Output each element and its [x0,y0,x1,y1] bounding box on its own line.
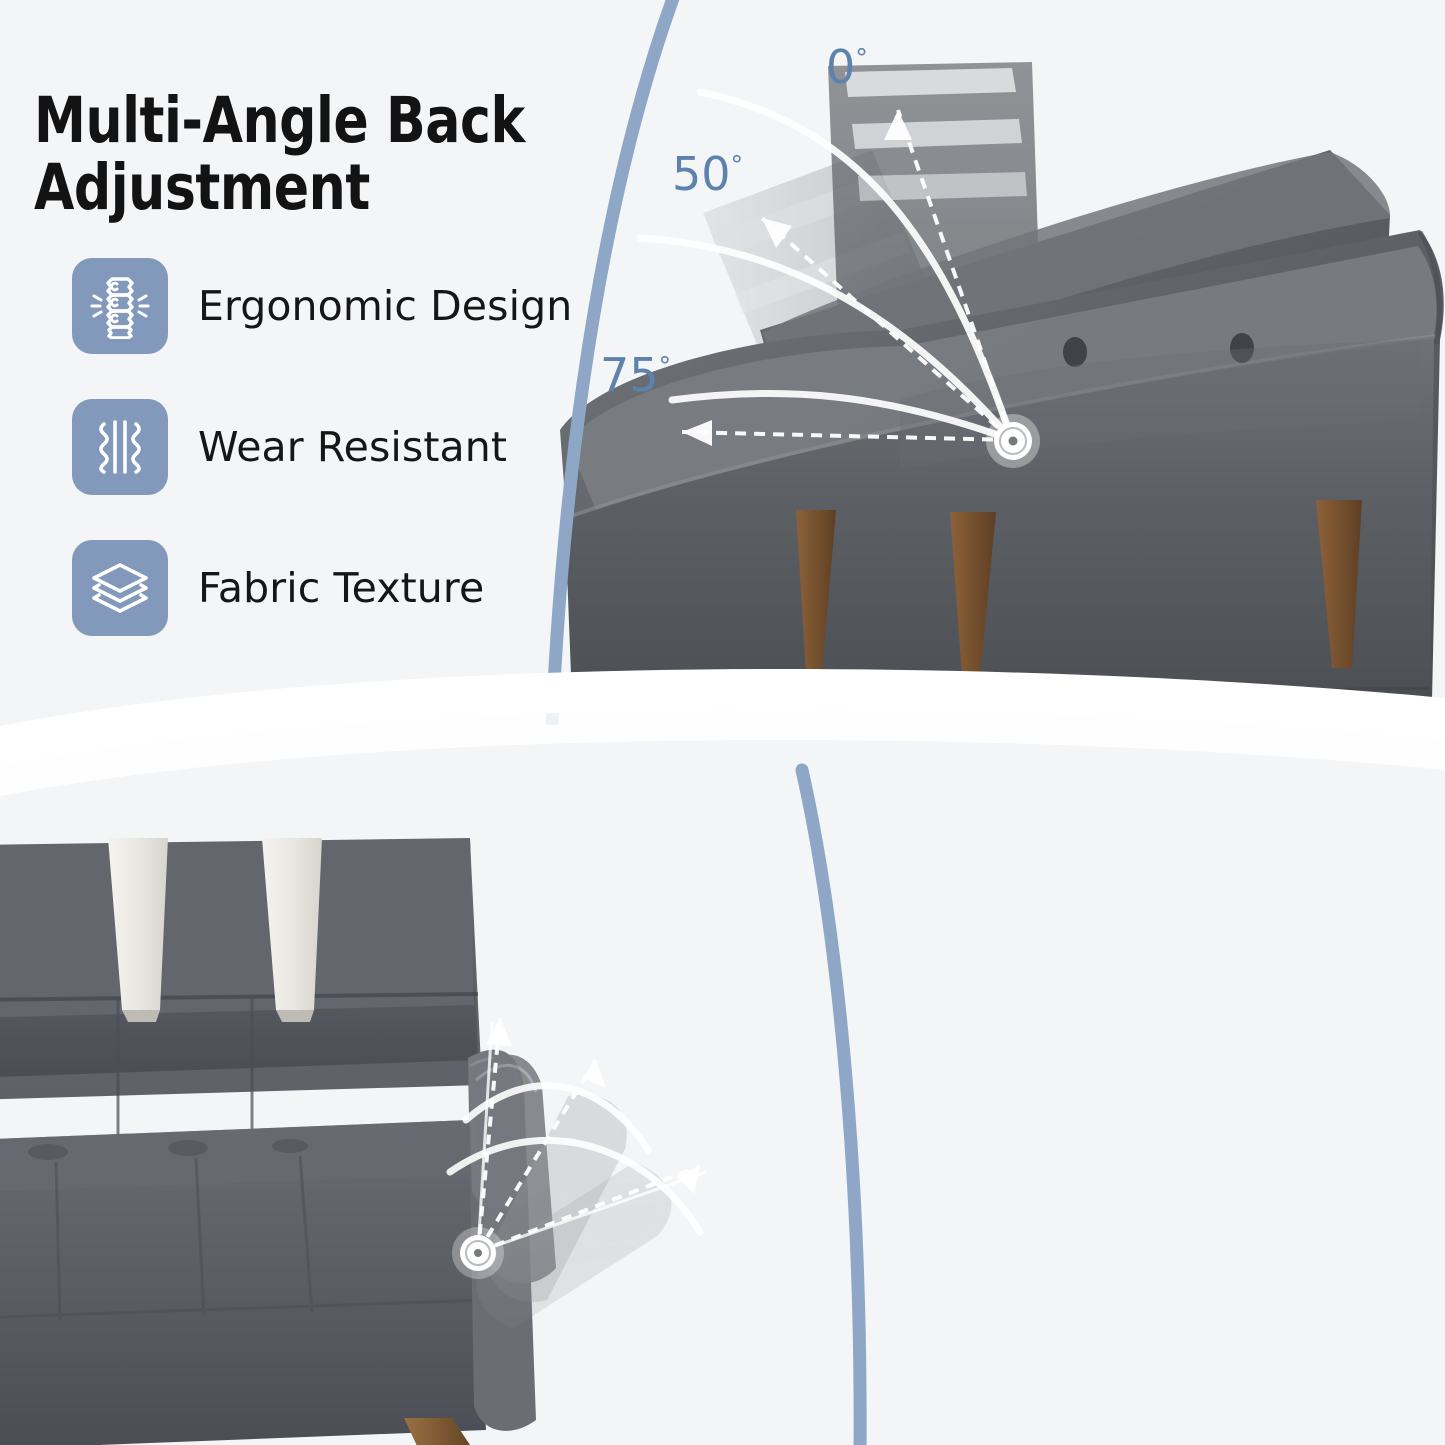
feature-item-fabric-texture: Fabric Texture [72,540,484,636]
section-armrest-adjustment: Adjustable Armrest Different Angle 0° 30… [0,725,1445,1445]
degree-symbol: ° [731,151,745,180]
title-top-line2: Adjustment [34,151,370,224]
angle-label-top-0: 0° [826,40,869,94]
feature-label: Wear Resistant [198,423,507,471]
layers-icon [72,540,168,636]
angle-label-top-50: 50° [672,147,744,201]
spine-icon [72,258,168,354]
section-back-adjustment: Multi-Angle Back Adjustment 0° 50° 75° [0,0,1445,725]
sofa-front-illustration [0,725,1445,1445]
wave-lines-icon [72,399,168,495]
pivot-marker [986,414,1040,468]
pivot-marker-bottom [452,1227,504,1279]
angle-label-top-75: 75° [600,348,672,402]
title-top-line1: Multi-Angle Back [34,84,525,157]
feature-item-wear-resistant: Wear Resistant [72,399,507,495]
feature-item-ergonomic-design: Ergonomic Design [72,258,572,354]
feature-label: Fabric Texture [198,564,484,612]
feature-label: Ergonomic Design [198,282,572,330]
degree-symbol: ° [855,44,869,73]
page-title-top: Multi-Angle Back Adjustment [34,88,586,222]
degree-symbol: ° [659,352,673,381]
blue-curve-divider-bottom [0,725,1445,1445]
infographic-canvas: Multi-Angle Back Adjustment 0° 50° 75° [0,0,1445,1445]
